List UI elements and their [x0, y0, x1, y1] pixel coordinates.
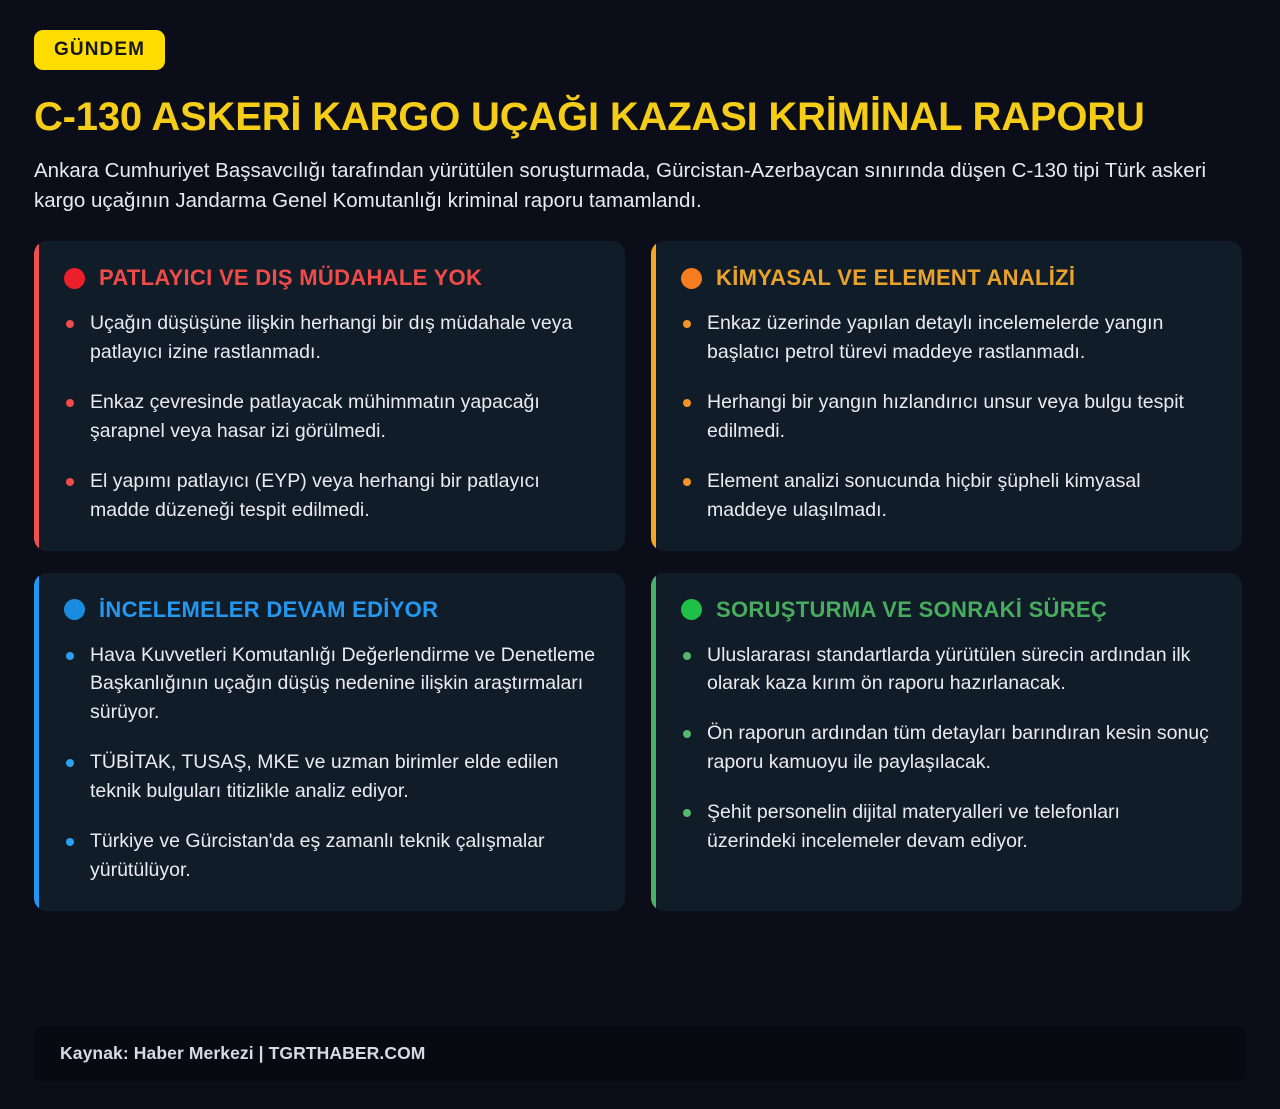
status-dot-icon: [64, 268, 85, 289]
card-title: KİMYASAL VE ELEMENT ANALİZİ: [716, 267, 1075, 289]
list-item: TÜBİTAK, TUSAŞ, MKE ve uzman birimler el…: [64, 748, 597, 806]
card-accent-bar: [34, 241, 39, 550]
card-accent-bar: [34, 573, 39, 911]
card-title: PATLAYICI VE DIŞ MÜDAHALE YOK: [99, 267, 482, 289]
list-item-text: Element analizi sonucunda hiçbir şüpheli…: [707, 470, 1141, 521]
bullet-dot-icon: [683, 320, 691, 328]
bullet-dot-icon: [66, 399, 74, 407]
page-title: C-130 ASKERİ KARGO UÇAĞI KAZASI KRİMİNAL…: [34, 96, 1246, 138]
bullet-dot-icon: [66, 838, 74, 846]
list-item-text: Enkaz üzerinde yapılan detaylı incelemel…: [707, 312, 1163, 363]
list-item: Şehit personelin dijital materyalleri ve…: [681, 798, 1214, 856]
card-header: KİMYASAL VE ELEMENT ANALİZİ: [681, 267, 1214, 289]
card-patlayici-ve-dis-mudahale-yok: PATLAYICI VE DIŞ MÜDAHALE YOK Uçağın düş…: [34, 241, 625, 550]
card-title: SORUŞTURMA VE SONRAKİ SÜREÇ: [716, 599, 1107, 621]
list-item: Uluslararası standartlarda yürütülen sür…: [681, 641, 1214, 699]
list-item: Ön raporun ardından tüm detayları barınd…: [681, 719, 1214, 777]
bullet-dot-icon: [683, 478, 691, 486]
bullet-dot-icon: [683, 809, 691, 817]
card-bullet-list: Enkaz üzerinde yapılan detaylı incelemel…: [681, 309, 1214, 524]
card-bullet-list: Uçağın düşüşüne ilişkin herhangi bir dış…: [64, 309, 597, 524]
card-accent-bar: [651, 241, 656, 550]
list-item: Enkaz üzerinde yapılan detaylı incelemel…: [681, 309, 1214, 367]
infographic-page: GÜNDEM C-130 ASKERİ KARGO UÇAĞI KAZASI K…: [0, 0, 1280, 1109]
list-item-text: Uçağın düşüşüne ilişkin herhangi bir dış…: [90, 312, 572, 363]
card-header: İNCELEMELER DEVAM EDİYOR: [64, 599, 597, 621]
card-bullet-list: Hava Kuvvetleri Komutanlığı Değerlendirm…: [64, 641, 597, 885]
bullet-dot-icon: [66, 478, 74, 486]
source-text: Kaynak: Haber Merkezi | TGRTHABER.COM: [60, 1043, 425, 1064]
list-item-text: Herhangi bir yangın hızlandırıcı unsur v…: [707, 391, 1184, 442]
source-footer: Kaynak: Haber Merkezi | TGRTHABER.COM: [34, 1026, 1246, 1081]
category-badge: GÜNDEM: [34, 30, 165, 70]
cards-grid: PATLAYICI VE DIŞ MÜDAHALE YOK Uçağın düş…: [34, 241, 1246, 910]
list-item-text: Türkiye ve Gürcistan'da eş zamanlı tekni…: [90, 830, 545, 881]
bullet-dot-icon: [66, 759, 74, 767]
bullet-dot-icon: [683, 399, 691, 407]
list-item: Element analizi sonucunda hiçbir şüpheli…: [681, 467, 1214, 525]
list-item-text: Hava Kuvvetleri Komutanlığı Değerlendirm…: [90, 644, 595, 724]
card-header: PATLAYICI VE DIŞ MÜDAHALE YOK: [64, 267, 597, 289]
card-header: SORUŞTURMA VE SONRAKİ SÜREÇ: [681, 599, 1214, 621]
bullet-dot-icon: [683, 730, 691, 738]
page-subtitle: Ankara Cumhuriyet Başsavcılığı tarafında…: [34, 156, 1246, 215]
list-item-text: Ön raporun ardından tüm detayları barınd…: [707, 722, 1209, 773]
card-bullet-list: Uluslararası standartlarda yürütülen sür…: [681, 641, 1214, 856]
list-item-text: El yapımı patlayıcı (EYP) veya herhangi …: [90, 470, 540, 521]
list-item: El yapımı patlayıcı (EYP) veya herhangi …: [64, 467, 597, 525]
list-item-text: Uluslararası standartlarda yürütülen sür…: [707, 644, 1190, 695]
list-item: Uçağın düşüşüne ilişkin herhangi bir dış…: [64, 309, 597, 367]
bullet-dot-icon: [66, 320, 74, 328]
card-accent-bar: [651, 573, 656, 911]
bullet-dot-icon: [66, 652, 74, 660]
card-incelemeler-devam-ediyor: İNCELEMELER DEVAM EDİYOR Hava Kuvvetleri…: [34, 573, 625, 911]
card-title: İNCELEMELER DEVAM EDİYOR: [99, 599, 438, 621]
list-item: Herhangi bir yangın hızlandırıcı unsur v…: [681, 388, 1214, 446]
status-dot-icon: [681, 268, 702, 289]
list-item: Türkiye ve Gürcistan'da eş zamanlı tekni…: [64, 827, 597, 885]
status-dot-icon: [681, 599, 702, 620]
status-dot-icon: [64, 599, 85, 620]
list-item: Hava Kuvvetleri Komutanlığı Değerlendirm…: [64, 641, 597, 728]
bullet-dot-icon: [683, 652, 691, 660]
list-item-text: TÜBİTAK, TUSAŞ, MKE ve uzman birimler el…: [90, 751, 559, 802]
list-item: Enkaz çevresinde patlayacak mühimmatın y…: [64, 388, 597, 446]
list-item-text: Enkaz çevresinde patlayacak mühimmatın y…: [90, 391, 540, 442]
list-item-text: Şehit personelin dijital materyalleri ve…: [707, 801, 1120, 852]
card-kimyasal-ve-element-analizi: KİMYASAL VE ELEMENT ANALİZİ Enkaz üzerin…: [651, 241, 1242, 550]
card-sorusturma-ve-sonraki-surec: SORUŞTURMA VE SONRAKİ SÜREÇ Uluslararası…: [651, 573, 1242, 911]
